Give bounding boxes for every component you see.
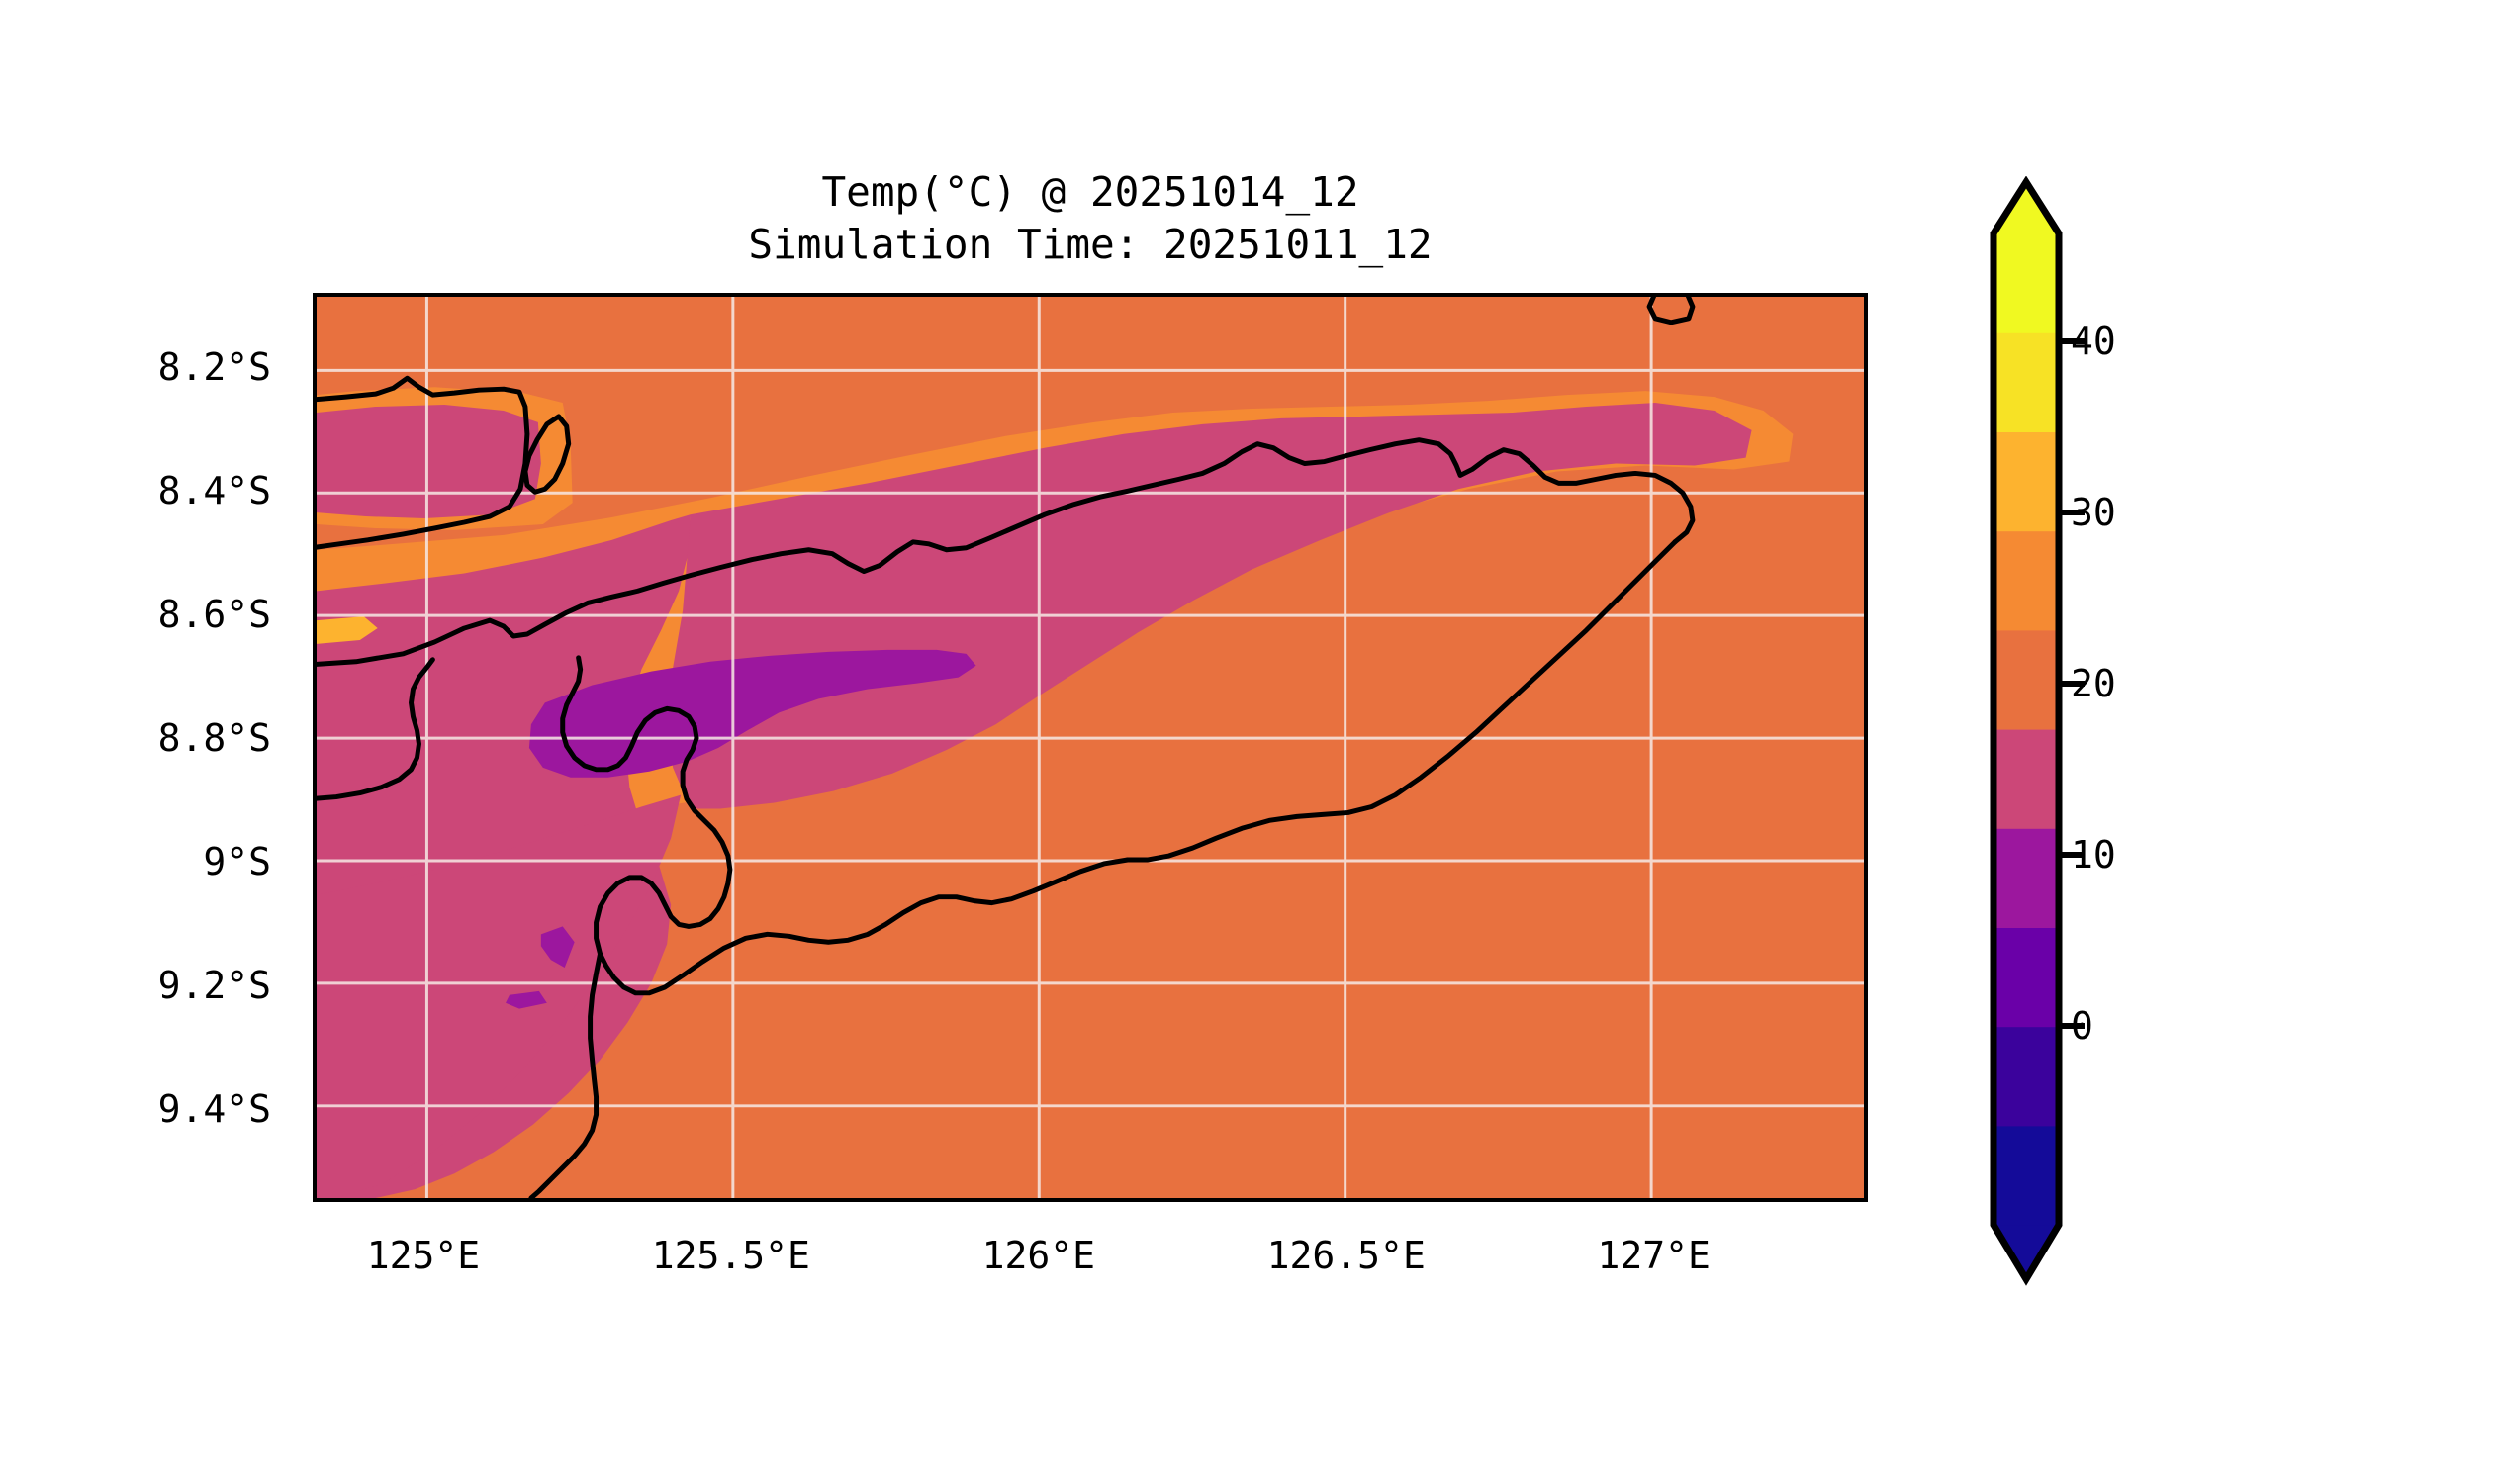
x-tick-label: 126°E bbox=[982, 1234, 1095, 1277]
y-tick-label: 8.6°S bbox=[158, 593, 271, 636]
colorbar-tick-label: 20 bbox=[2071, 662, 2116, 705]
y-tick-label: 9°S bbox=[203, 840, 271, 883]
colorbar-tick-label: 10 bbox=[2071, 833, 2116, 877]
contour-band-20-25 bbox=[317, 405, 541, 518]
figure-canvas: Temp(°C) @ 20251014_12 Simulation Time: … bbox=[0, 0, 2504, 1484]
colorbar-tick-label: 30 bbox=[2071, 491, 2116, 534]
title-line-2: Simulation Time: 20251011_12 bbox=[313, 219, 1868, 271]
x-tick-label: 125°E bbox=[367, 1234, 480, 1277]
colorbar-svg bbox=[1974, 176, 2290, 1339]
colorbar-band bbox=[1994, 729, 2059, 829]
temperature-contour-map bbox=[317, 297, 1864, 1198]
colorbar-band bbox=[1994, 531, 2059, 631]
chart-title: Temp(°C) @ 20251014_12 Simulation Time: … bbox=[313, 166, 1868, 272]
y-tick-label: 8.2°S bbox=[158, 345, 271, 389]
y-tick-label: 9.2°S bbox=[158, 964, 271, 1007]
colorbar-band bbox=[1994, 1126, 2059, 1226]
colorbar-band bbox=[1994, 1027, 2059, 1127]
x-tick-label: 125.5°E bbox=[652, 1234, 810, 1277]
colorbar-band bbox=[1994, 828, 2059, 928]
colorbar-band bbox=[1994, 332, 2059, 432]
colorbar-tick-label: 0 bbox=[2071, 1004, 2093, 1048]
colorbar-band bbox=[1994, 927, 2059, 1027]
colorbar-band bbox=[1994, 431, 2059, 531]
x-tick-label: 126.5°E bbox=[1267, 1234, 1426, 1277]
colorbar-band bbox=[1994, 630, 2059, 730]
title-line-1: Temp(°C) @ 20251014_12 bbox=[313, 166, 1868, 219]
y-tick-label: 8.8°S bbox=[158, 716, 271, 760]
map-axes[interactable] bbox=[313, 293, 1868, 1202]
colorbar-over-arrow bbox=[1994, 182, 2059, 233]
colorbar-tick-label: 40 bbox=[2071, 320, 2116, 363]
x-axis-tick-labels: 125°E125.5°E126°E126.5°E127°E bbox=[313, 1202, 1868, 1291]
colorbar-bands bbox=[1994, 182, 2059, 1279]
y-tick-label: 8.4°S bbox=[158, 469, 271, 512]
colorbar-band bbox=[1994, 233, 2059, 333]
x-tick-label: 127°E bbox=[1597, 1234, 1710, 1277]
colorbar[interactable]: 403020100 bbox=[1974, 176, 2290, 1339]
y-tick-label: 9.4°S bbox=[158, 1087, 271, 1131]
colorbar-under-arrow bbox=[1994, 1225, 2059, 1279]
y-axis-tick-labels: 8.2°S8.4°S8.6°S8.8°S9°S9.2°S9.4°S bbox=[0, 293, 293, 1202]
